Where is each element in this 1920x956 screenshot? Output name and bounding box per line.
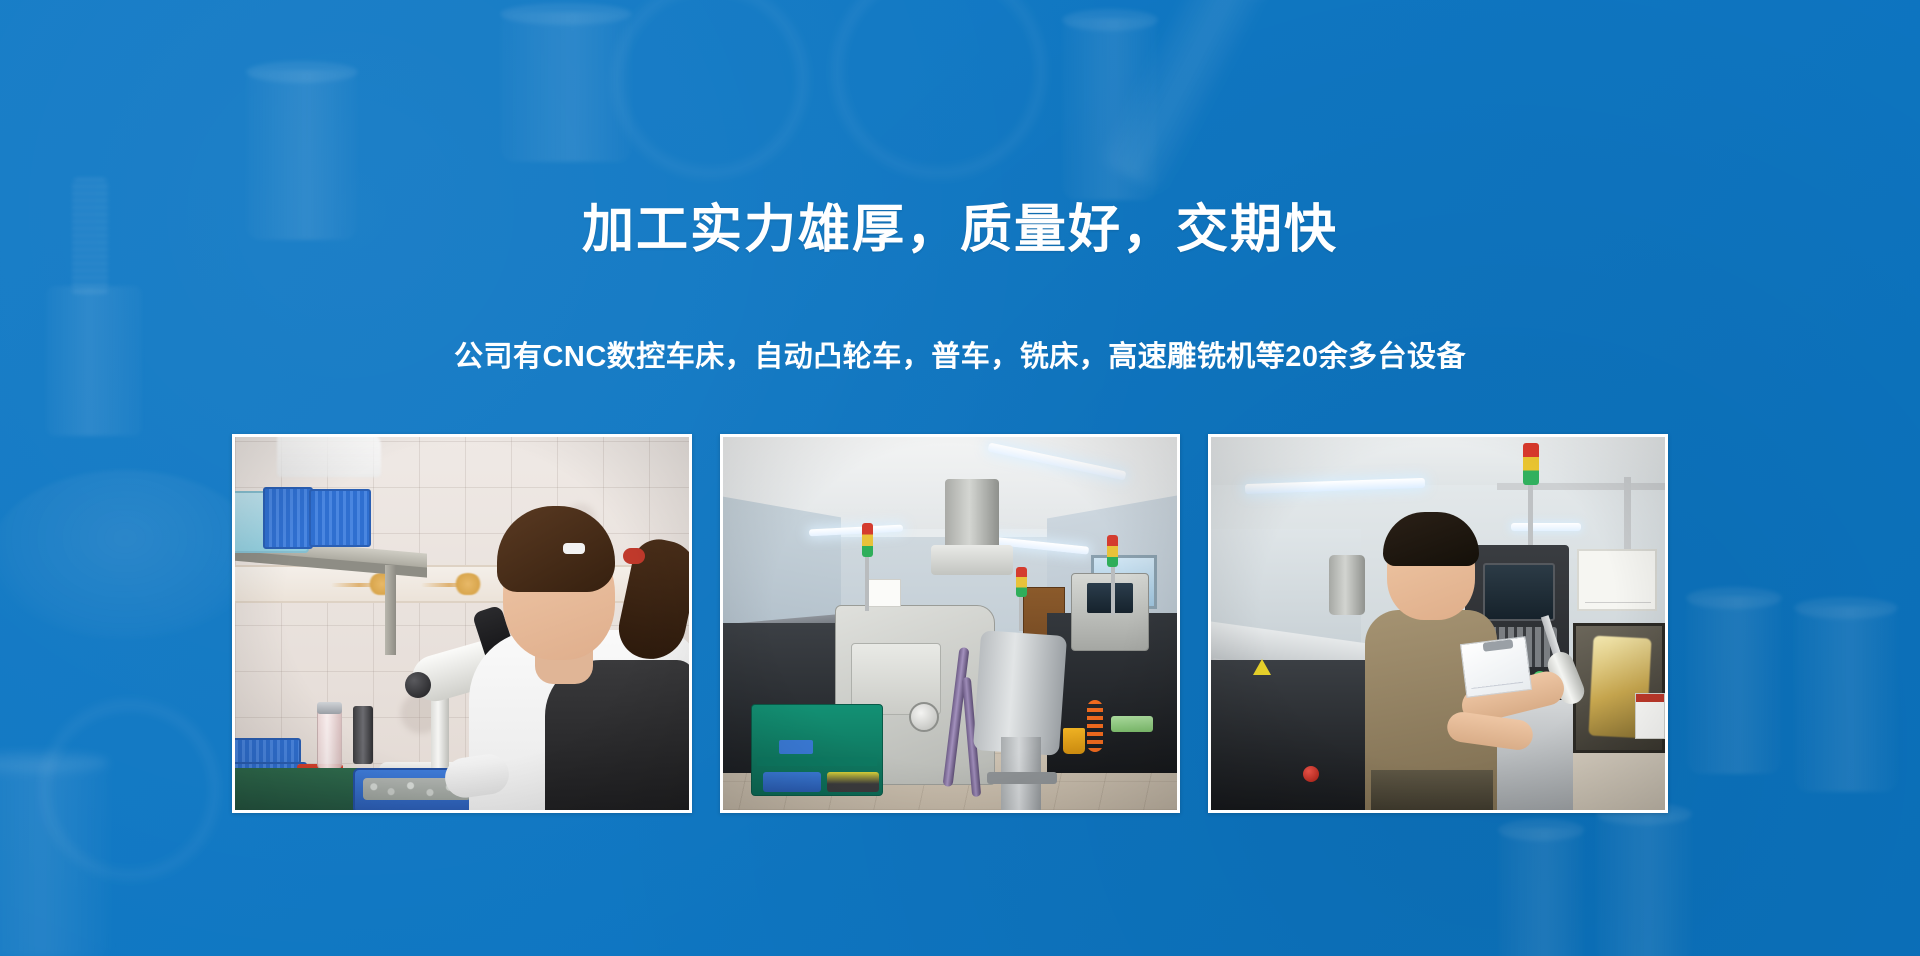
water-bottle <box>317 708 342 770</box>
technical-drawing-content <box>1467 645 1523 689</box>
hair-tie <box>623 548 645 564</box>
process-drawing-lines <box>1585 559 1651 603</box>
hair-clip <box>563 543 585 554</box>
pressure-gauge <box>909 702 939 732</box>
chip-extractor-housing <box>931 545 1013 575</box>
signal-tower-light <box>1523 443 1539 485</box>
page-title: 加工实力雄厚，质量好，交期快 <box>0 198 1920 262</box>
machine-info-card <box>865 579 901 607</box>
signal-tower-light-2 <box>1016 567 1027 597</box>
tool-cart-blue-tray <box>763 772 821 792</box>
green-parts-bin <box>1111 716 1153 732</box>
storage-basket-blue-2 <box>309 489 371 547</box>
tool-cart-hand-tools <box>827 772 879 792</box>
emergency-stop-button <box>1303 766 1319 782</box>
signal-tower-light-3 <box>1107 535 1118 567</box>
photo-2-scene <box>723 437 1177 810</box>
plastic-bag <box>277 437 381 477</box>
signal-tower-light-1 <box>862 523 873 557</box>
ceiling-pipe-horizontal <box>1497 483 1665 490</box>
tool-cart-shelf <box>757 757 877 766</box>
extractor-duct <box>1329 555 1365 615</box>
microscope-focus-knob <box>405 672 431 698</box>
gallery-photo-microscope-inspection[interactable] <box>232 434 692 813</box>
cnc-controller-screen <box>1483 563 1555 621</box>
wall-shelf-leg <box>385 565 396 655</box>
chip-conveyor-foot <box>987 772 1057 784</box>
water-bottle-cap <box>317 702 342 714</box>
safety-notice-label <box>1635 693 1665 739</box>
promo-banner: 加工实力雄厚，质量好，交期快 公司有CNC数控车床，自动凸轮车，普车，铣床，高速… <box>0 0 1920 956</box>
orange-coil-cord <box>1087 700 1103 752</box>
desk-tool <box>353 706 373 764</box>
gallery-photo-cnc-operator[interactable] <box>1208 434 1668 813</box>
storage-basket-blue-1 <box>263 487 313 549</box>
page-subtitle: 公司有CNC数控车床，自动凸轮车，普车，铣床，高速雕铣机等20余多台设备 <box>0 337 1920 377</box>
ceiling-lamp-secondary <box>1511 523 1581 531</box>
photo-1-scene <box>235 437 689 810</box>
signal-tower-pole-3 <box>1111 565 1115 615</box>
operator-trousers <box>1371 770 1493 810</box>
signal-tower-pole-2 <box>1019 595 1023 631</box>
signal-tower-pole-1 <box>865 555 869 611</box>
tool-cart-blue-box <box>779 740 813 754</box>
lathe-right-screen <box>1087 583 1133 613</box>
photo-gallery <box>232 434 1668 813</box>
gallery-photo-cnc-workshop[interactable] <box>720 434 1180 813</box>
yellow-bucket <box>1063 728 1085 754</box>
photo-3-scene <box>1211 437 1665 810</box>
border-flower-2 <box>453 573 483 595</box>
storage-basket-blue-3 <box>235 738 301 764</box>
bar-feeder-base <box>1211 660 1371 810</box>
